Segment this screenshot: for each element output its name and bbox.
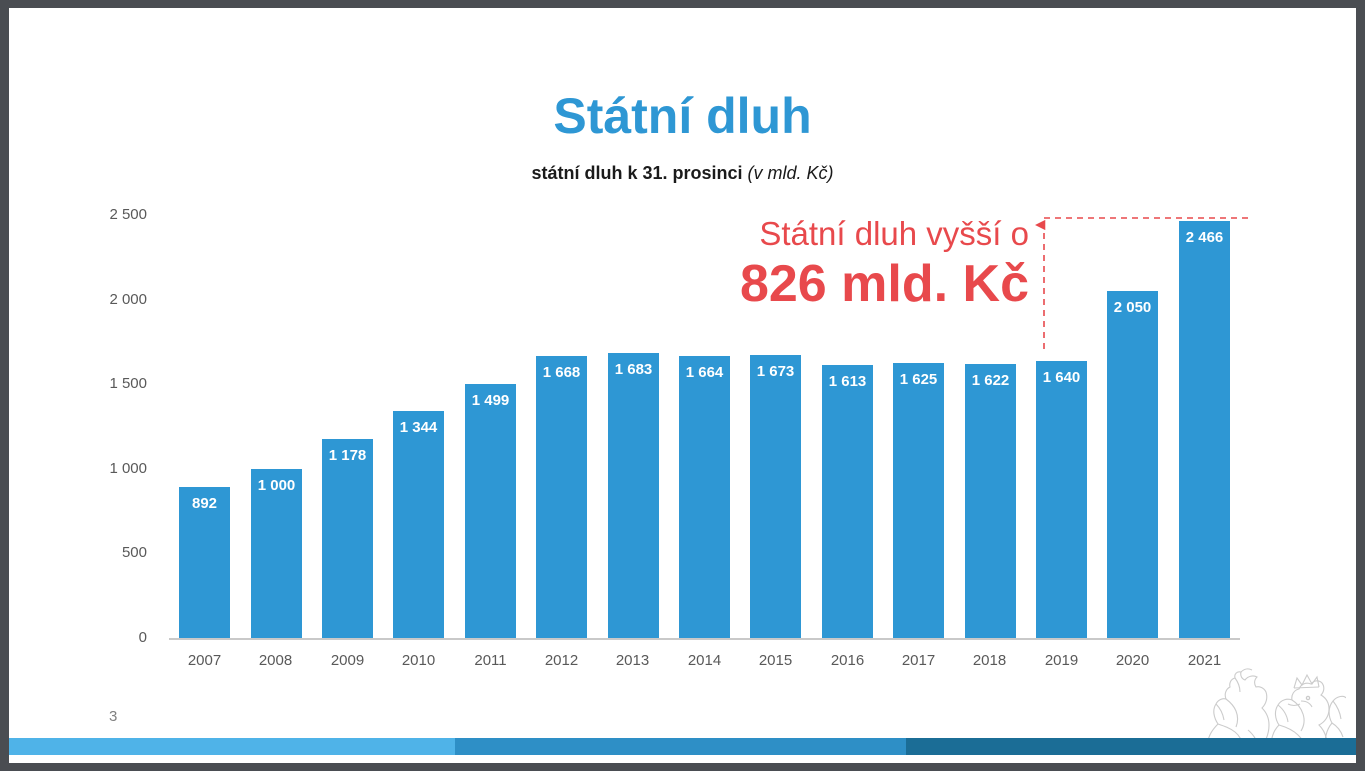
bar-value-label: 892 — [179, 495, 230, 512]
bar-value-label: 1 613 — [822, 373, 873, 390]
x-axis-tick-label: 2008 — [240, 652, 311, 670]
x-axis-tick-label: 2010 — [383, 652, 454, 670]
bar-2019: 1 640 — [1036, 361, 1087, 638]
bar-value-label: 1 625 — [893, 371, 944, 388]
bar-value-label: 1 668 — [536, 364, 587, 381]
x-axis-tick-label: 2016 — [812, 652, 883, 670]
x-axis-tick-label: 2007 — [169, 652, 240, 670]
slide-canvas: Státní dluh státní dluh k 31. prosinci (… — [9, 8, 1356, 763]
x-axis-tick-label: 2009 — [312, 652, 383, 670]
x-axis-tick-label: 2014 — [669, 652, 740, 670]
x-axis-tick-label: 2012 — [526, 652, 597, 670]
footer-bar — [9, 738, 1356, 755]
bar-chart: 05001 0001 5002 0002 50089220071 0002008… — [9, 8, 1356, 763]
bar-value-label: 1 499 — [465, 392, 516, 409]
bar-2014: 1 664 — [679, 356, 730, 638]
x-axis-tick-label: 2015 — [740, 652, 811, 670]
slide-frame: Státní dluh státní dluh k 31. prosinci (… — [0, 0, 1365, 771]
bar-2015: 1 673 — [750, 355, 801, 638]
bar-2008: 1 000 — [251, 469, 302, 638]
x-axis-tick-label: 2011 — [455, 652, 526, 670]
bar-2012: 1 668 — [536, 356, 587, 638]
bar-2009: 1 178 — [322, 439, 373, 638]
bar-value-label: 1 664 — [679, 364, 730, 381]
bar-value-label: 1 673 — [750, 363, 801, 380]
footer-segment-light — [9, 738, 455, 755]
slide-number: 3 — [109, 708, 117, 725]
bar-value-label: 1 683 — [608, 361, 659, 378]
dashed-arrow-annotation — [1009, 203, 1269, 383]
footer-segment-mid — [455, 738, 906, 755]
czech-coat-of-arms-icon — [1196, 646, 1346, 738]
y-axis-tick-label: 0 — [67, 630, 147, 646]
x-axis-tick-label: 2020 — [1097, 652, 1168, 670]
bar-2007: 892 — [179, 487, 230, 638]
bar-2010: 1 344 — [393, 411, 444, 638]
y-axis-tick-label: 2 500 — [67, 207, 147, 223]
bar-2013: 1 683 — [608, 353, 659, 638]
x-axis-tick-label: 2017 — [883, 652, 954, 670]
y-axis-tick-label: 1 500 — [67, 376, 147, 392]
bar-value-label: 1 178 — [322, 447, 373, 464]
y-axis-tick-label: 500 — [67, 545, 147, 561]
bar-value-label: 1 000 — [251, 477, 302, 494]
bar-value-label: 1 344 — [393, 419, 444, 436]
x-axis-tick-label: 2019 — [1026, 652, 1097, 670]
bar-2018: 1 622 — [965, 364, 1016, 638]
bar-2017: 1 625 — [893, 363, 944, 638]
x-axis-tick-label: 2013 — [597, 652, 668, 670]
bar-2016: 1 613 — [822, 365, 873, 638]
y-axis-tick-label: 2 000 — [67, 292, 147, 308]
footer-segment-dark — [906, 738, 1356, 755]
x-axis-tick-label: 2018 — [954, 652, 1025, 670]
axis-baseline — [169, 638, 1240, 640]
y-axis-tick-label: 1 000 — [67, 461, 147, 477]
bar-2011: 1 499 — [465, 384, 516, 638]
